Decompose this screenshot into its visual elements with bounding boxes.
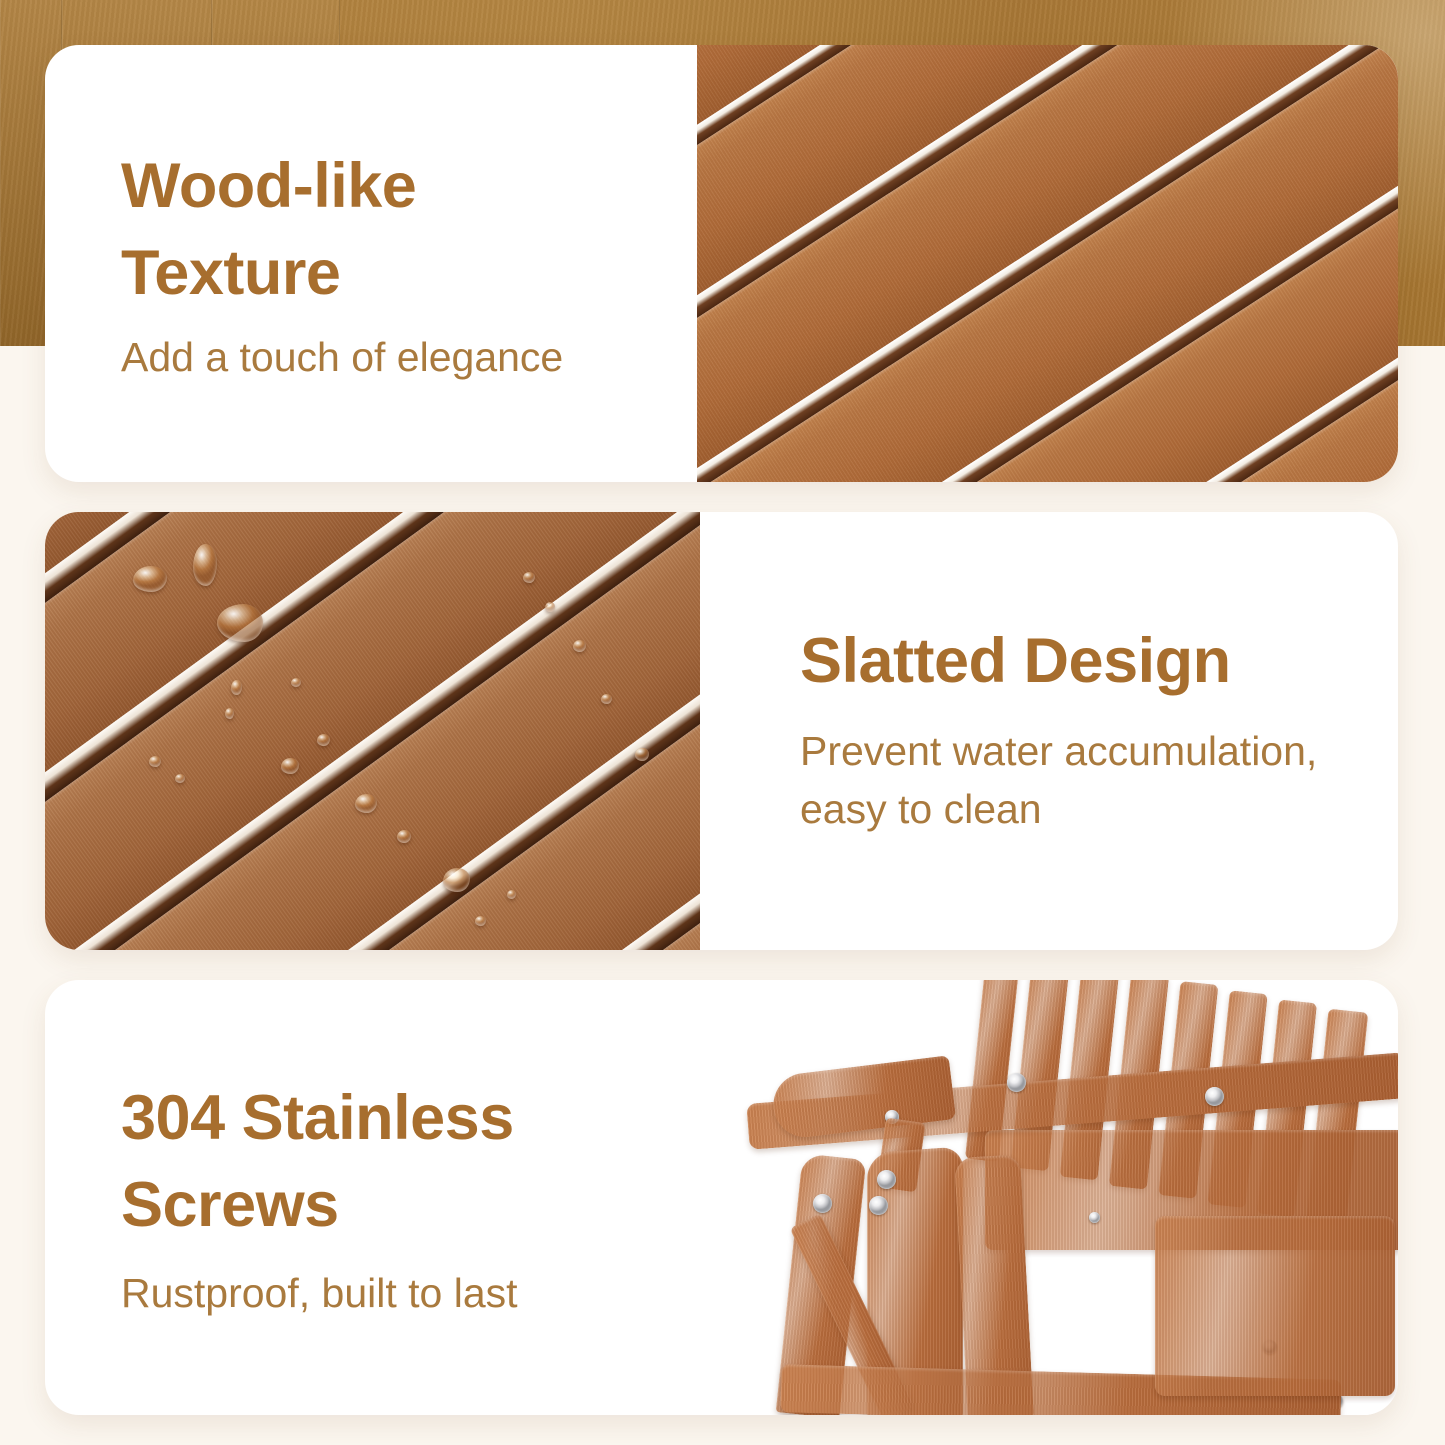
- water-droplet: [281, 758, 299, 774]
- card2-subtitle: Prevent water accumulation,easy to clean: [800, 722, 1358, 838]
- card1-slatted-wood-texture-photo: [697, 45, 1398, 482]
- water-droplet: [601, 694, 612, 704]
- infographic-page: Wood-likeTexture Add a touch of elegance: [0, 0, 1445, 1445]
- water-droplet: [149, 756, 161, 767]
- card1-title: Wood-likeTexture: [121, 143, 697, 317]
- water-droplet: [133, 566, 167, 592]
- card3-folding-chair-hardware-photo: [685, 980, 1398, 1415]
- stainless-screw: [869, 1196, 888, 1215]
- water-droplet: [635, 748, 649, 761]
- water-droplet: [545, 602, 555, 612]
- card1-subtitle: Add a touch of elegance: [121, 331, 697, 384]
- water-droplet: [193, 544, 217, 586]
- feature-card-304-stainless-screws: 304 StainlessScrews Rustproof, built to …: [45, 980, 1398, 1415]
- water-droplet: [291, 678, 301, 687]
- water-droplet: [443, 868, 470, 892]
- card2-title: Slatted Design: [800, 624, 1358, 700]
- water-droplet: [355, 794, 377, 813]
- card3-title: 304 StainlessScrews: [121, 1075, 685, 1249]
- card1-text-panel: Wood-likeTexture Add a touch of elegance: [45, 45, 697, 482]
- card3-subtitle: Rustproof, built to last: [121, 1267, 685, 1320]
- stainless-screw: [877, 1170, 896, 1189]
- feature-card-slatted-design: Slatted Design Prevent water accumulatio…: [45, 512, 1398, 950]
- card2-water-beading-photo: [45, 512, 700, 950]
- water-droplet: [475, 916, 486, 926]
- stainless-screw: [813, 1194, 832, 1213]
- water-droplet: [573, 640, 586, 652]
- water-droplet: [397, 830, 411, 843]
- water-droplet: [507, 890, 516, 899]
- water-droplet: [217, 604, 263, 642]
- water-droplet: [317, 734, 330, 746]
- water-droplet: [225, 708, 234, 719]
- water-droplet: [175, 774, 185, 783]
- card3-text-panel: 304 StainlessScrews Rustproof, built to …: [45, 980, 685, 1415]
- stainless-screw: [1007, 1073, 1026, 1092]
- stainless-screw: [1089, 1212, 1100, 1223]
- water-droplet: [523, 572, 535, 583]
- water-droplet: [231, 680, 242, 695]
- feature-card-wood-like-texture: Wood-likeTexture Add a touch of elegance: [45, 45, 1398, 482]
- stainless-screw: [1205, 1087, 1224, 1106]
- card2-text-panel: Slatted Design Prevent water accumulatio…: [700, 512, 1398, 950]
